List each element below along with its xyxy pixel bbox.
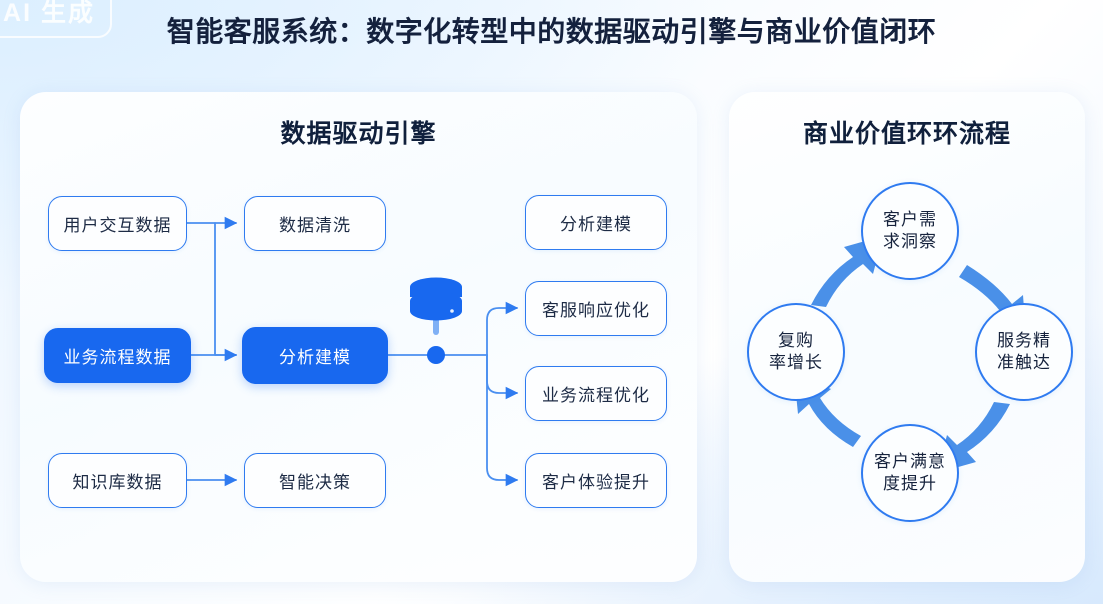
circle-insight-line1: 客户需 <box>883 209 937 231</box>
circle-satis-line1: 客户满意 <box>874 451 946 473</box>
slide-canvas: AI 生成 智能客服系统：数字化转型中的数据驱动引擎与商业价值闭环 数据驱动引擎 <box>0 0 1103 604</box>
circle-reach-line2: 准触达 <box>997 352 1051 374</box>
circle-customer-insight[interactable]: 客户需 求洞察 <box>861 182 959 280</box>
ai-generated-watermark: AI 生成 <box>0 0 112 38</box>
circle-customer-satisfaction[interactable]: 客户满意 度提升 <box>861 424 959 522</box>
circle-precise-service-reach[interactable]: 服务精 准触达 <box>975 303 1073 401</box>
circle-insight-line2: 求洞察 <box>883 231 937 253</box>
circle-reach-line1: 服务精 <box>997 330 1051 352</box>
circle-repurchase-growth[interactable]: 复购 率增长 <box>747 303 845 401</box>
watermark-label: AI 生成 <box>3 0 95 29</box>
circle-repeat-line1: 复购 <box>778 330 814 352</box>
circle-satis-line2: 度提升 <box>883 473 937 495</box>
circle-repeat-line2: 率增长 <box>769 352 823 374</box>
